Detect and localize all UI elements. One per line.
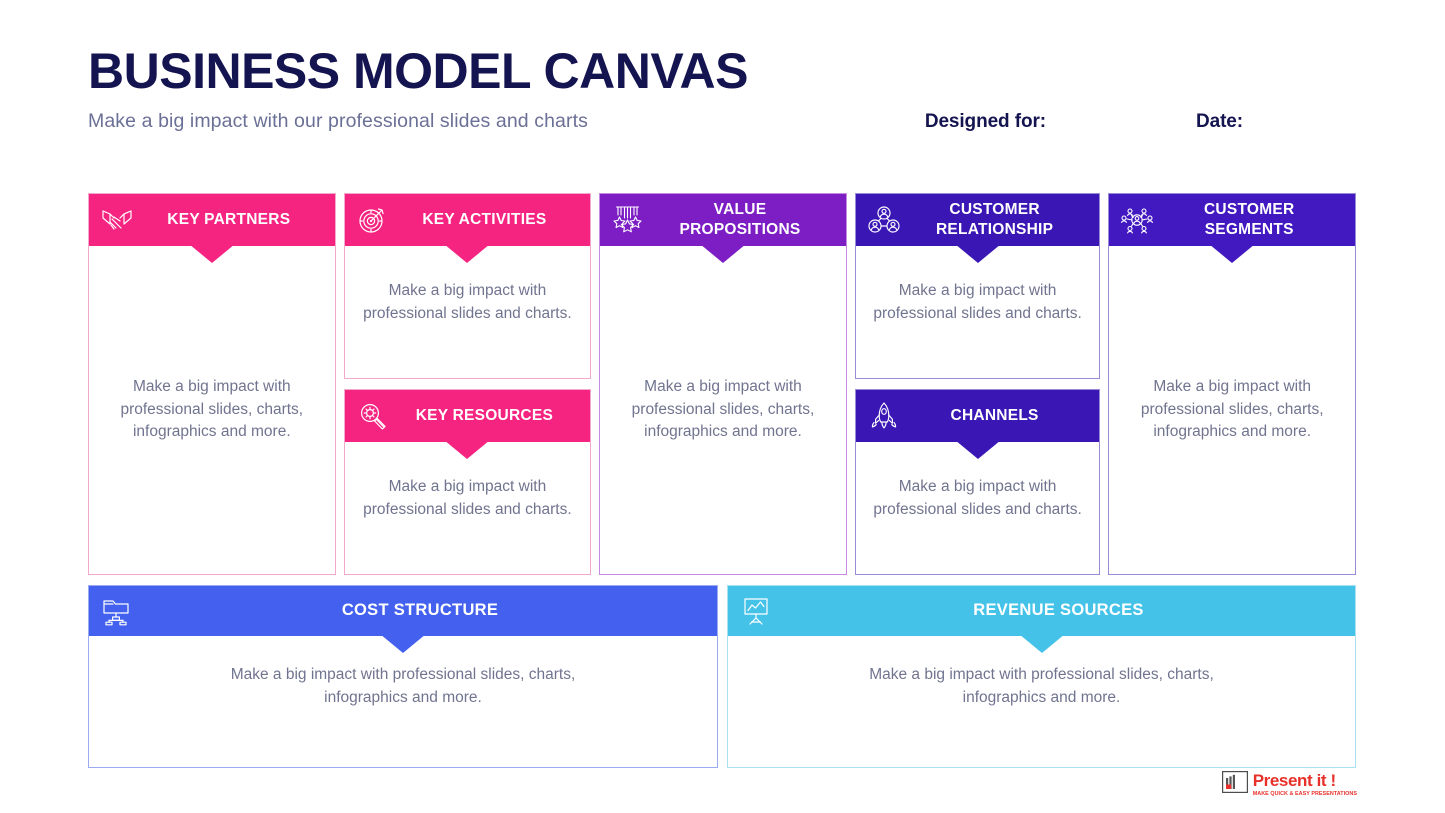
presentation-chart-icon [738, 594, 774, 628]
card-body-customer-segments: Make a big impact with professional slid… [1109, 246, 1355, 574]
card-header-key-partners: KEY PARTNERS [89, 194, 335, 246]
meta-fields: Designed for: Date: [925, 111, 1358, 133]
card-cost-structure[interactable]: COST STRUCTURE Make a big impact with pr… [88, 585, 718, 768]
card-body-key-activities: Make a big impact with professional slid… [345, 246, 591, 378]
header-notch [1019, 634, 1065, 653]
present-it-logo-mark [1222, 771, 1248, 798]
card-text-channels: Make a big impact with professional slid… [872, 476, 1084, 522]
card-header-customer-segments: CUSTOMER SEGMENTS [1109, 194, 1355, 246]
subtitle-row: Make a big impact with our professional … [88, 110, 1358, 133]
magnifier-gear-icon [355, 399, 391, 433]
card-header-cost-structure: COST STRUCTURE [89, 586, 717, 636]
card-customer-segments[interactable]: CUSTOMER SEGMENTS Make a big impact with… [1108, 193, 1356, 575]
card-text-revenue-sources: Make a big impact with professional slid… [832, 664, 1252, 710]
title-line-2: SEGMENTS [1205, 221, 1294, 238]
card-text-customer-relationship: Make a big impact with professional slid… [872, 280, 1084, 326]
rocket-icon [866, 399, 902, 433]
card-value-propositions[interactable]: VALUE PROPOSITIONS Make a big impact wit… [599, 193, 847, 575]
card-customer-relationship[interactable]: CUSTOMER RELATIONSHIP Make a big impact … [855, 193, 1101, 379]
folder-hierarchy-icon [99, 594, 135, 628]
card-title-channels: CHANNELS [902, 406, 1092, 426]
card-text-value-propositions: Make a big impact with professional slid… [616, 376, 830, 444]
column-key-activities: KEY ACTIVITIES Make a big impact with pr… [344, 193, 592, 575]
people-network-icon [1119, 203, 1155, 237]
card-title-customer-relationship: CUSTOMER RELATIONSHIP [902, 200, 1092, 240]
card-title-key-resources: KEY RESOURCES [391, 406, 583, 426]
designed-for-label: Designed for: [925, 111, 1046, 133]
card-text-cost-structure: Make a big impact with professional slid… [193, 664, 613, 710]
card-body-key-partners: Make a big impact with professional slid… [89, 246, 335, 574]
canvas-top-row: KEY PARTNERS Make a big impact with prof… [88, 193, 1356, 575]
card-body-key-resources: Make a big impact with professional slid… [345, 442, 591, 574]
header-notch [189, 244, 235, 263]
date-label: Date: [1196, 111, 1243, 133]
page-title: BUSINESS MODEL CANVAS [88, 44, 1358, 98]
card-channels[interactable]: CHANNELS Make a big impact with professi… [855, 389, 1101, 575]
card-title-revenue-sources: REVENUE SOURCES [774, 600, 1347, 621]
title-line-2: PROPOSITIONS [679, 221, 800, 238]
card-title-value-propositions: VALUE PROPOSITIONS [646, 200, 838, 240]
header-notch [1209, 244, 1255, 263]
title-line-2: RELATIONSHIP [936, 221, 1053, 238]
card-revenue-sources[interactable]: REVENUE SOURCES Make a big impact with p… [727, 585, 1356, 768]
title-line-1: CUSTOMER [1204, 201, 1294, 218]
card-text-key-partners: Make a big impact with professional slid… [105, 376, 319, 444]
card-key-resources[interactable]: KEY RESOURCES Make a big impact with pro… [344, 389, 592, 575]
card-body-customer-relationship: Make a big impact with professional slid… [856, 246, 1100, 378]
card-body-revenue-sources: Make a big impact with professional slid… [728, 636, 1355, 767]
logo-tagline: MAKE QUICK & EASY PRESENTATIONS [1253, 791, 1357, 797]
card-text-customer-segments: Make a big impact with professional slid… [1125, 376, 1339, 444]
card-header-revenue-sources: REVENUE SOURCES [728, 586, 1355, 636]
canvas-bottom-row: COST STRUCTURE Make a big impact with pr… [88, 585, 1356, 768]
logo-name: Present it ! [1253, 772, 1357, 789]
column-value-propositions: VALUE PROPOSITIONS Make a big impact wit… [599, 193, 847, 575]
logo-text: Present it ! MAKE QUICK & EASY PRESENTAT… [1253, 772, 1357, 797]
column-customer-relationship: CUSTOMER RELATIONSHIP Make a big impact … [855, 193, 1101, 575]
card-text-key-resources: Make a big impact with professional slid… [361, 476, 575, 522]
column-key-partners: KEY PARTNERS Make a big impact with prof… [88, 193, 336, 575]
card-text-key-activities: Make a big impact with professional slid… [361, 280, 575, 326]
card-header-key-activities: KEY ACTIVITIES [345, 194, 591, 246]
card-title-cost-structure: COST STRUCTURE [135, 600, 709, 621]
card-key-partners[interactable]: KEY PARTNERS Make a big impact with prof… [88, 193, 336, 575]
card-header-value-propositions: VALUE PROPOSITIONS [600, 194, 846, 246]
title-line-1: VALUE [714, 201, 767, 218]
card-header-channels: CHANNELS [856, 390, 1100, 442]
header-notch [955, 440, 1001, 459]
card-title-key-partners: KEY PARTNERS [135, 210, 327, 230]
card-key-activities[interactable]: KEY ACTIVITIES Make a big impact with pr… [344, 193, 592, 379]
card-title-key-activities: KEY ACTIVITIES [391, 210, 583, 230]
business-model-canvas: KEY PARTNERS Make a big impact with prof… [88, 193, 1356, 768]
header-notch [380, 634, 426, 653]
header-notch [444, 244, 490, 263]
card-body-cost-structure: Make a big impact with professional slid… [89, 636, 717, 767]
people-group-icon [866, 203, 902, 237]
column-customer-segments: CUSTOMER SEGMENTS Make a big impact with… [1108, 193, 1356, 575]
card-title-customer-segments: CUSTOMER SEGMENTS [1155, 200, 1347, 240]
header-notch [955, 244, 1001, 263]
target-icon [355, 203, 391, 237]
card-body-value-propositions: Make a big impact with professional slid… [600, 246, 846, 574]
card-header-key-resources: KEY RESOURCES [345, 390, 591, 442]
page-header: BUSINESS MODEL CANVAS Make a big impact … [88, 44, 1358, 133]
medals-icon [610, 203, 646, 237]
card-header-customer-relationship: CUSTOMER RELATIONSHIP [856, 194, 1100, 246]
header-notch [444, 440, 490, 459]
title-line-1: CUSTOMER [949, 201, 1039, 218]
card-body-channels: Make a big impact with professional slid… [856, 442, 1100, 574]
header-notch [700, 244, 746, 263]
page-subtitle: Make a big impact with our professional … [88, 110, 588, 133]
footer-logo: Present it ! MAKE QUICK & EASY PRESENTAT… [1222, 771, 1357, 798]
handshake-icon [99, 203, 135, 237]
